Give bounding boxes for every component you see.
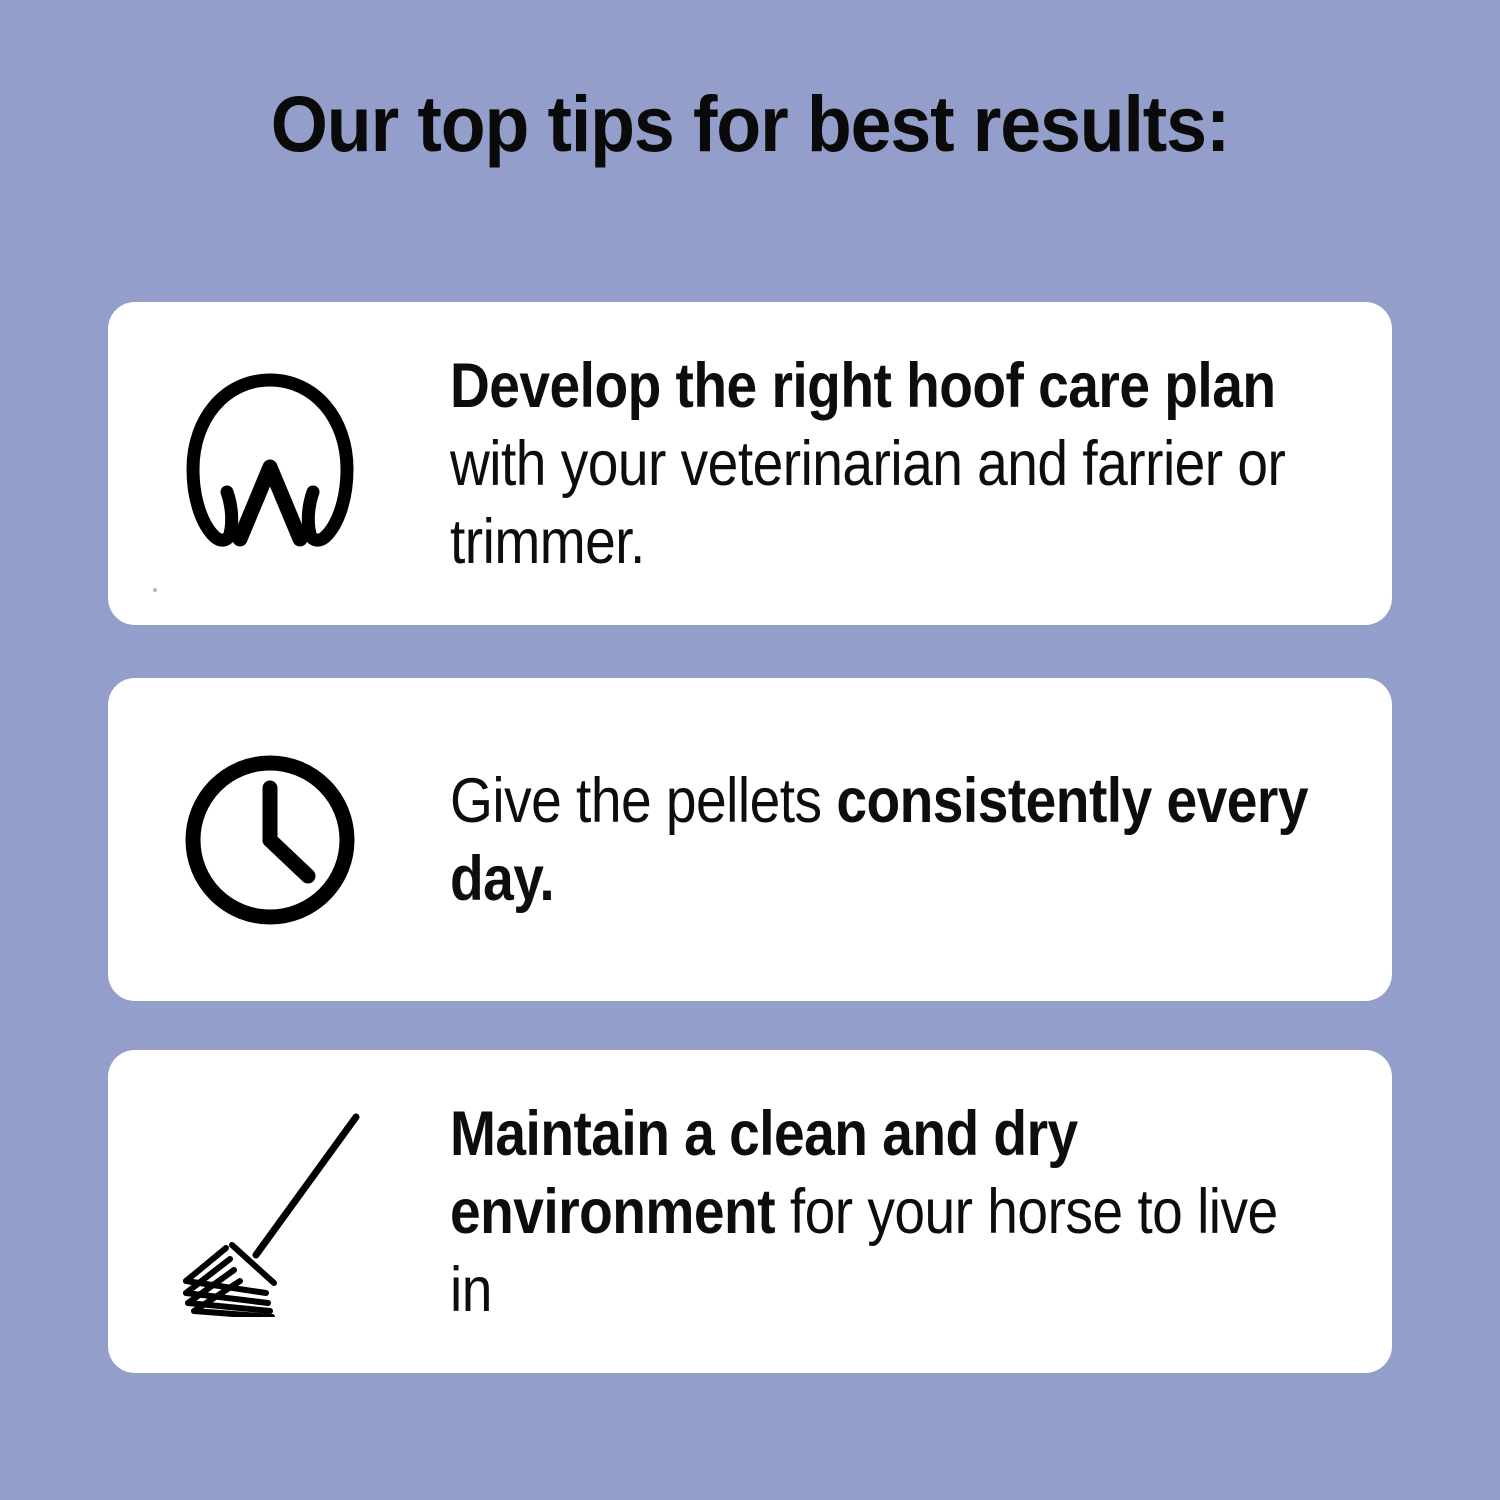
tip-card-3: Maintain a clean and dry environment for… [108,1050,1392,1373]
tip-card-2: Give the pellets consistently every day. [108,678,1392,1001]
tip-rest-1: with your veterinarian and farrier or tr… [450,429,1285,577]
tip-lead-2: Give the pellets [450,766,836,836]
tip-text-1: Develop the right hoof care plan with yo… [450,347,1334,581]
tip-bold-1: Develop the right hoof care plan [450,351,1276,421]
page-title: Our top tips for best results: [53,84,1448,163]
hoof-icon [170,364,370,564]
tip-text-2: Give the pellets consistently every day. [450,762,1334,918]
clock-icon [170,740,370,940]
tip-card-1: Develop the right hoof care plan with yo… [108,302,1392,625]
rake-icon [170,1112,370,1312]
infographic-page: Our top tips for best results: Develop t… [0,0,1500,1500]
artifact-speck [153,588,157,592]
tip-text-3: Maintain a clean and dry environment for… [450,1095,1334,1329]
